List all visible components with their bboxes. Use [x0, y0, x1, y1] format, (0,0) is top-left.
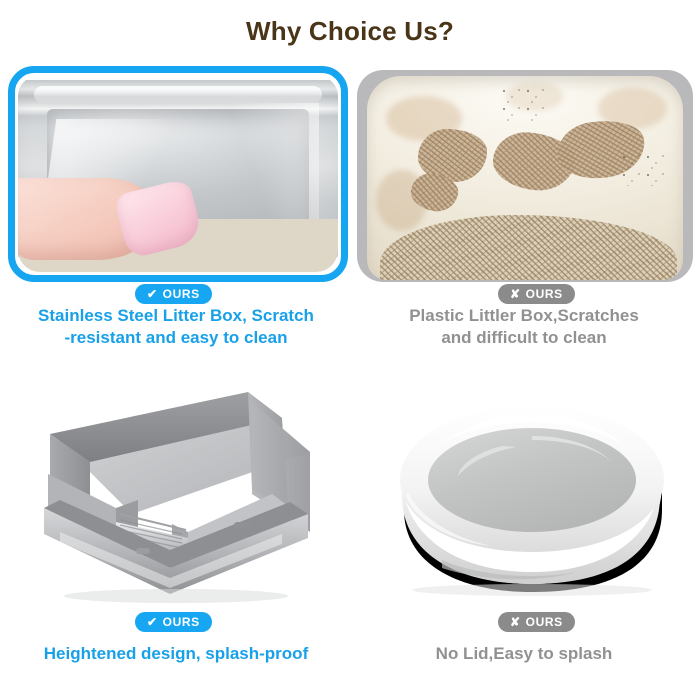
page-title: Why Choice Us? — [0, 16, 700, 47]
check-icon: ✔ — [147, 616, 158, 628]
badge-theirs-top-right: ✘ OURS — [498, 284, 575, 304]
caption-top-left: Stainless Steel Litter Box, Scratch -res… — [8, 305, 344, 349]
badge-label: OURS — [163, 287, 200, 301]
cross-icon: ✘ — [510, 288, 521, 300]
check-icon: ✔ — [147, 288, 158, 300]
cross-icon: ✘ — [510, 616, 521, 628]
caption-bottom-right: No Lid,Easy to splash — [356, 643, 692, 665]
caption-line: -resistant and easy to clean — [8, 327, 344, 349]
caption-line: Stainless Steel Litter Box, Scratch — [8, 305, 344, 327]
dirty-plastic-litter-box-photo — [357, 70, 693, 282]
caption-line: and difficult to clean — [356, 327, 692, 349]
panel-bottom-left — [20, 382, 340, 608]
caption-top-right: Plastic Littler Box,Scratches and diffic… — [356, 305, 692, 349]
caption-line: No Lid,Easy to splash — [356, 643, 692, 665]
caption-bottom-left: Heightened design, splash-proof — [8, 643, 344, 665]
open-litter-tray-photo — [382, 392, 678, 598]
heightened-litter-box-photo — [20, 382, 340, 608]
caption-line: Heightened design, splash-proof — [8, 643, 344, 665]
panel-top-left — [8, 66, 348, 282]
badge-theirs-bottom-right: ✘ OURS — [498, 612, 575, 632]
badge-ours-top-left: ✔ OURS — [135, 284, 212, 304]
panel-top-right — [357, 70, 693, 282]
panel-bottom-right — [382, 392, 678, 598]
badge-label: OURS — [526, 615, 563, 629]
badge-ours-bottom-left: ✔ OURS — [135, 612, 212, 632]
scratch-marks — [405, 121, 645, 215]
stainless-steel-litter-box-photo — [8, 66, 348, 282]
badge-label: OURS — [526, 287, 563, 301]
litter-pile — [380, 215, 677, 280]
badge-label: OURS — [163, 615, 200, 629]
caption-line: Plastic Littler Box,Scratches — [356, 305, 692, 327]
